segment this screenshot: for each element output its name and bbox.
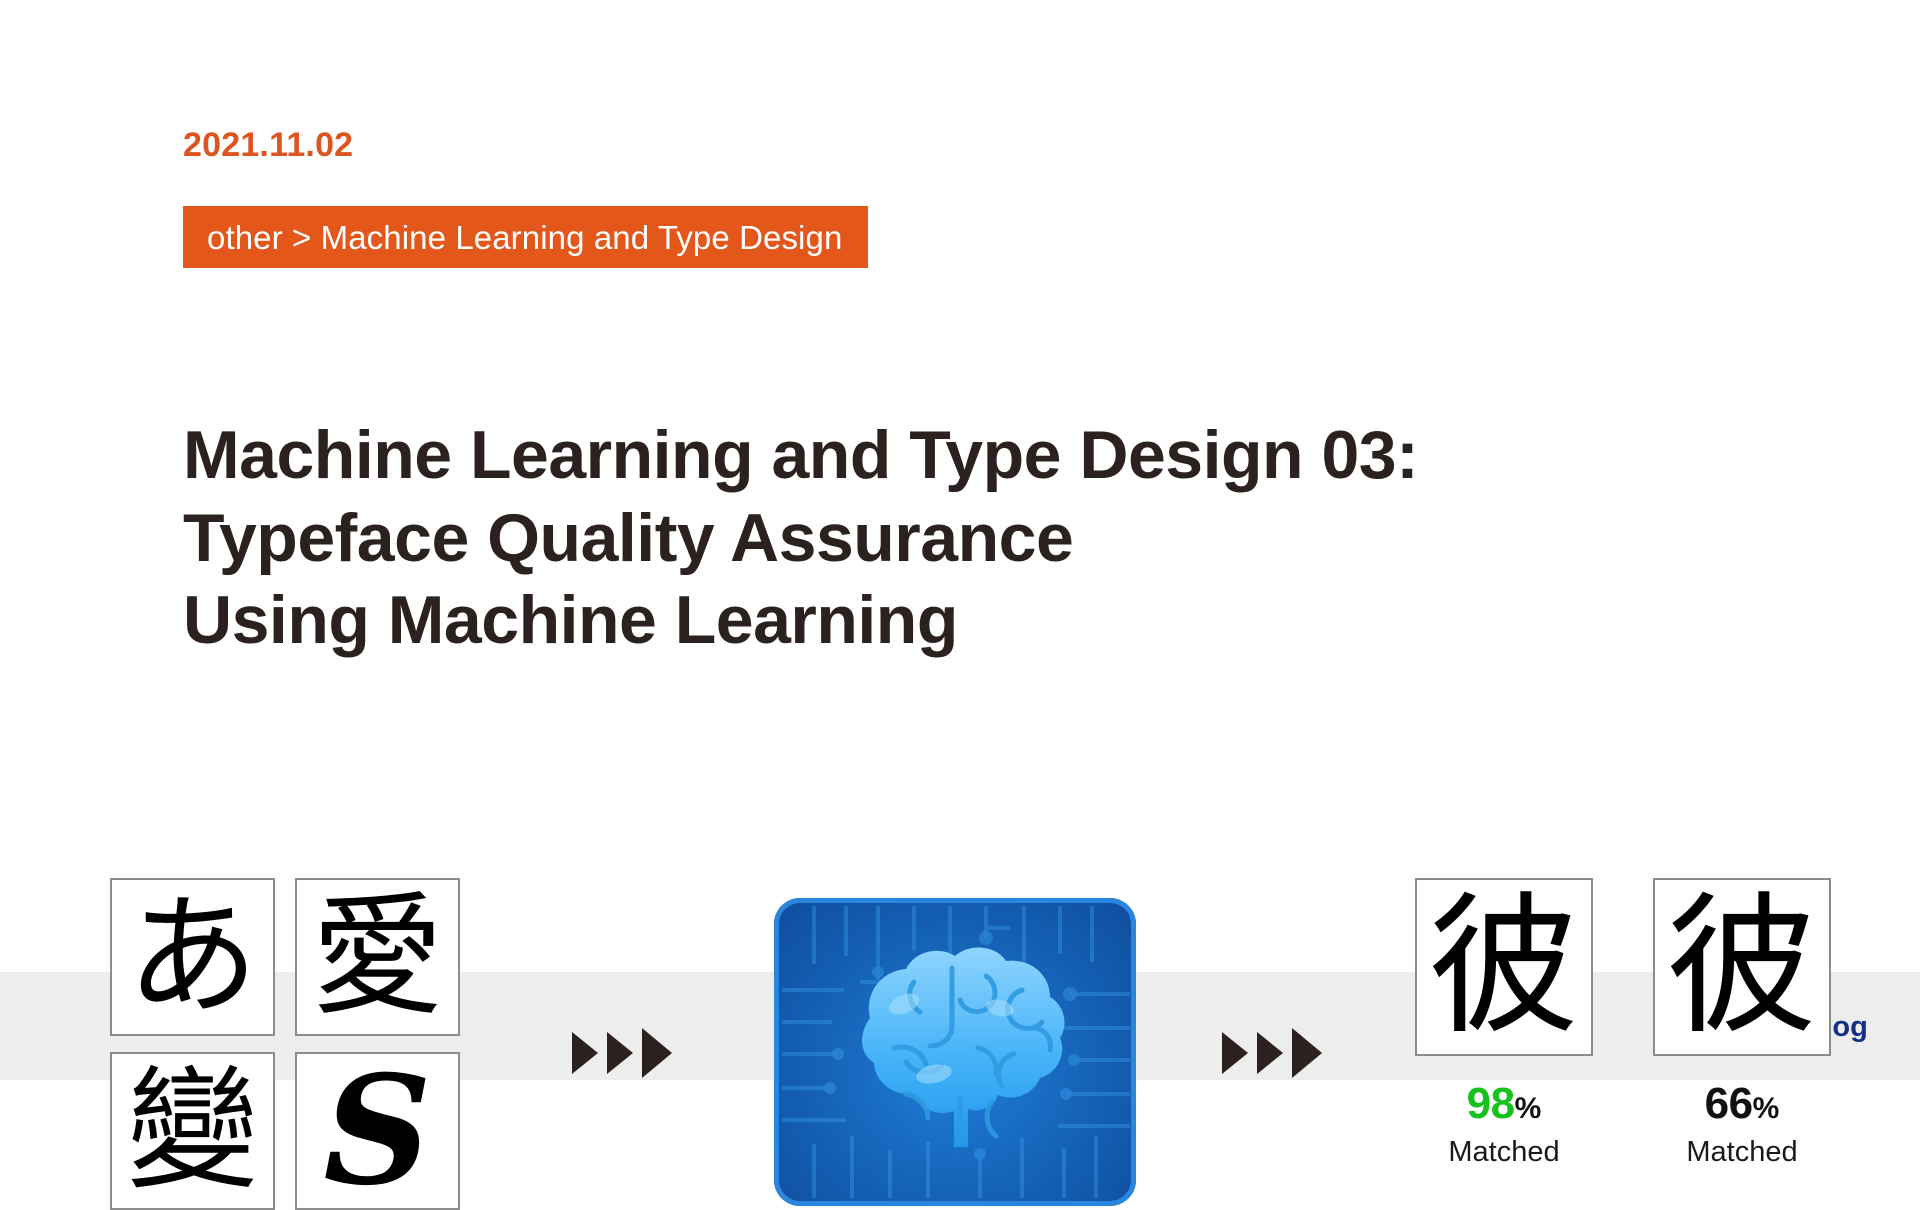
arrow-right-icon	[607, 1032, 633, 1074]
brain-illustration	[774, 898, 1136, 1206]
match-result-card: 彼 66% Matched	[1653, 878, 1831, 1167]
flow-arrows-left	[572, 1028, 672, 1078]
page-title: Machine Learning and Type Design 03: Typ…	[183, 414, 1683, 663]
source-glyph-box-2: 愛	[295, 878, 460, 1036]
match-result-card: 彼 98% Matched	[1415, 878, 1593, 1167]
match-score-unit: %	[1753, 1092, 1780, 1125]
match-score-unit: %	[1515, 1092, 1542, 1125]
page-title-line-2: Typeface Quality Assurance	[183, 497, 1683, 580]
breadcrumb-label: other > Machine Learning and Type Design	[207, 221, 842, 254]
glyph-kanji-ai: 愛	[312, 891, 444, 1023]
arrow-right-icon	[572, 1032, 598, 1074]
match-score-value: 98	[1467, 1079, 1515, 1128]
source-glyph-box-4: S	[295, 1052, 460, 1210]
arrow-right-icon	[1257, 1032, 1283, 1074]
ai-brain-chip-icon	[774, 898, 1136, 1206]
match-status-label: Matched	[1653, 1138, 1831, 1167]
match-status-label: Matched	[1415, 1138, 1593, 1167]
glyph-kanji-hen: 變	[127, 1065, 259, 1197]
arrow-right-icon	[1292, 1028, 1322, 1078]
match-glyph-box: 彼	[1415, 878, 1593, 1056]
glyph-latin-s: S	[323, 1056, 431, 1206]
source-glyph-box-1: あ	[110, 878, 275, 1036]
match-score: 66%	[1653, 1082, 1831, 1126]
glyph-kanji-kare: 彼	[1666, 891, 1818, 1043]
flow-arrows-right	[1222, 1028, 1322, 1078]
glyph-hiragana-a: あ	[127, 891, 259, 1023]
page-title-line-1: Machine Learning and Type Design 03:	[183, 414, 1683, 497]
page-title-line-3: Using Machine Learning	[183, 579, 1683, 662]
match-glyph-box: 彼	[1653, 878, 1831, 1056]
glyph-kanji-kare: 彼	[1428, 891, 1580, 1043]
arrow-right-icon	[642, 1028, 672, 1078]
post-date: 2021.11.02	[183, 128, 353, 162]
category-breadcrumb-badge[interactable]: other > Machine Learning and Type Design	[183, 206, 868, 268]
match-score: 98%	[1415, 1082, 1593, 1126]
source-glyph-box-3: 變	[110, 1052, 275, 1210]
arrow-right-icon	[1222, 1032, 1248, 1074]
match-score-value: 66	[1705, 1079, 1753, 1128]
